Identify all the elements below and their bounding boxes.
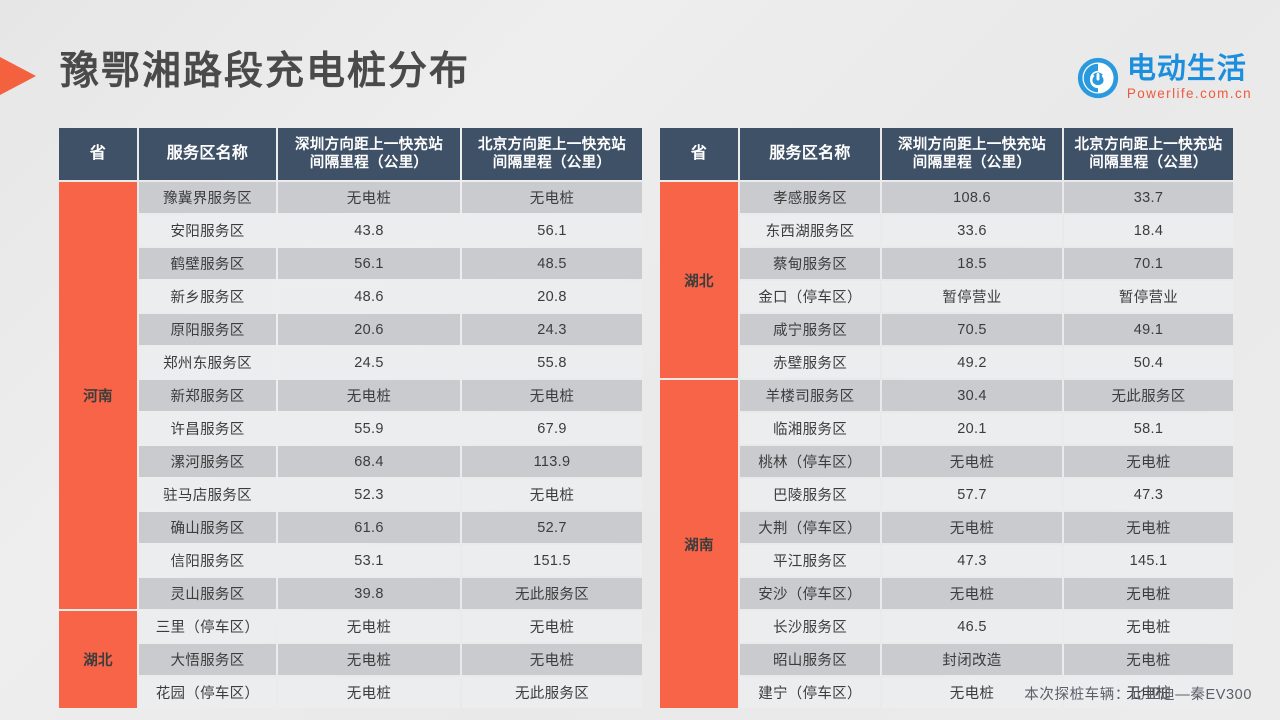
table-row: 郑州东服务区24.555.8 (59, 347, 642, 378)
shenzhen-distance-cell: 20.6 (278, 314, 460, 345)
service-area-name-cell: 豫冀界服务区 (139, 182, 276, 213)
logo-name-cn: 电动生活 (1127, 55, 1247, 84)
province-cell: 河南 (59, 182, 137, 609)
shenzhen-distance-cell: 43.8 (278, 215, 460, 246)
table-row: 赤壁服务区49.250.4 (660, 347, 1233, 378)
column-header-beijing-direction: 北京方向距上一快充站 间隔里程（公里） (1064, 128, 1233, 180)
table-row: 湖南羊楼司服务区30.4无此服务区 (660, 380, 1233, 411)
shenzhen-distance-cell: 68.4 (278, 446, 460, 477)
service-area-name-cell: 漯河服务区 (139, 446, 276, 477)
charging-station-table-left: 省 服务区名称 深圳方向距上一快充站 间隔里程（公里） 北京方向距上一快充站 间… (57, 126, 634, 710)
province-cell: 湖北 (59, 611, 137, 708)
beijing-distance-cell: 无此服务区 (1064, 380, 1233, 411)
service-area-name-cell: 咸宁服务区 (740, 314, 880, 345)
table-row: 鹤壁服务区56.148.5 (59, 248, 642, 279)
column-header-shenzhen-line2: 间隔里程（公里） (913, 155, 1031, 171)
column-header-shenzhen-direction: 深圳方向距上一快充站 间隔里程（公里） (882, 128, 1062, 180)
table-row: 临湘服务区20.158.1 (660, 413, 1233, 444)
service-area-name-cell: 金口（停车区） (740, 281, 880, 312)
shenzhen-distance-cell: 49.2 (882, 347, 1062, 378)
beijing-distance-cell: 52.7 (462, 512, 642, 543)
column-header-service-area: 服务区名称 (740, 128, 880, 180)
table-row: 安沙（停车区）无电桩无电桩 (660, 578, 1233, 609)
service-area-name-cell: 建宁（停车区） (740, 677, 880, 708)
service-area-name-cell: 赤壁服务区 (740, 347, 880, 378)
shenzhen-distance-cell: 无电桩 (278, 182, 460, 213)
table-row: 漯河服务区68.4113.9 (59, 446, 642, 477)
service-area-name-cell: 羊楼司服务区 (740, 380, 880, 411)
service-area-name-cell: 郑州东服务区 (139, 347, 276, 378)
power-button-circle-icon (1077, 57, 1119, 99)
beijing-distance-cell: 无电桩 (462, 182, 642, 213)
service-area-name-cell: 新郑服务区 (139, 380, 276, 411)
table-row: 安阳服务区43.856.1 (59, 215, 642, 246)
beijing-distance-cell: 无电桩 (462, 380, 642, 411)
shenzhen-distance-cell: 61.6 (278, 512, 460, 543)
beijing-distance-cell: 49.1 (1064, 314, 1233, 345)
column-header-shenzhen-direction: 深圳方向距上一快充站 间隔里程（公里） (278, 128, 460, 180)
service-area-name-cell: 花园（停车区） (139, 677, 276, 708)
beijing-distance-cell: 58.1 (1064, 413, 1233, 444)
beijing-distance-cell: 18.4 (1064, 215, 1233, 246)
table-row: 河南豫冀界服务区无电桩无电桩 (59, 182, 642, 213)
column-header-beijing-direction: 北京方向距上一快充站 间隔里程（公里） (462, 128, 642, 180)
beijing-distance-cell: 48.5 (462, 248, 642, 279)
shenzhen-distance-cell: 无电桩 (278, 677, 460, 708)
beijing-distance-cell: 暂停营业 (1064, 281, 1233, 312)
column-header-beijing-line2: 间隔里程（公里） (1089, 155, 1207, 171)
table-body: 湖北孝感服务区108.633.7东西湖服务区33.618.4蔡甸服务区18.57… (660, 182, 1233, 708)
column-header-province: 省 (59, 128, 137, 180)
shenzhen-distance-cell: 无电桩 (882, 446, 1062, 477)
service-area-name-cell: 安沙（停车区） (740, 578, 880, 609)
service-area-name-cell: 孝感服务区 (740, 182, 880, 213)
shenzhen-distance-cell: 33.6 (882, 215, 1062, 246)
shenzhen-distance-cell: 暂停营业 (882, 281, 1062, 312)
service-area-name-cell: 临湘服务区 (740, 413, 880, 444)
table-header-row: 省 服务区名称 深圳方向距上一快充站 间隔里程（公里） 北京方向距上一快充站 间… (59, 128, 642, 180)
table-header-row: 省 服务区名称 深圳方向距上一快充站 间隔里程（公里） 北京方向距上一快充站 间… (660, 128, 1233, 180)
beijing-distance-cell: 50.4 (1064, 347, 1233, 378)
service-area-name-cell: 长沙服务区 (740, 611, 880, 642)
column-header-beijing-line2: 间隔里程（公里） (493, 155, 611, 171)
shenzhen-distance-cell: 55.9 (278, 413, 460, 444)
shenzhen-distance-cell: 48.6 (278, 281, 460, 312)
beijing-distance-cell: 无此服务区 (462, 578, 642, 609)
shenzhen-distance-cell: 24.5 (278, 347, 460, 378)
shenzhen-distance-cell: 无电桩 (882, 578, 1062, 609)
beijing-distance-cell: 113.9 (462, 446, 642, 477)
service-area-name-cell: 平江服务区 (740, 545, 880, 576)
table-row: 湖北孝感服务区108.633.7 (660, 182, 1233, 213)
column-header-service-area: 服务区名称 (139, 128, 276, 180)
table-row: 大悟服务区无电桩无电桩 (59, 644, 642, 675)
shenzhen-distance-cell: 52.3 (278, 479, 460, 510)
service-area-name-cell: 鹤壁服务区 (139, 248, 276, 279)
shenzhen-distance-cell: 39.8 (278, 578, 460, 609)
shenzhen-distance-cell: 封闭改造 (882, 644, 1062, 675)
beijing-distance-cell: 无电桩 (1064, 446, 1233, 477)
beijing-distance-cell: 56.1 (462, 215, 642, 246)
table-row: 金口（停车区）暂停营业暂停营业 (660, 281, 1233, 312)
shenzhen-distance-cell: 30.4 (882, 380, 1062, 411)
column-header-shenzhen-line2: 间隔里程（公里） (310, 155, 428, 171)
service-area-name-cell: 许昌服务区 (139, 413, 276, 444)
shenzhen-distance-cell: 18.5 (882, 248, 1062, 279)
beijing-distance-cell: 无电桩 (1064, 578, 1233, 609)
table-row: 驻马店服务区52.3无电桩 (59, 479, 642, 510)
table-row: 信阳服务区53.1151.5 (59, 545, 642, 576)
table-row: 蔡甸服务区18.570.1 (660, 248, 1233, 279)
shenzhen-distance-cell: 56.1 (278, 248, 460, 279)
service-area-name-cell: 大荆（停车区） (740, 512, 880, 543)
service-area-name-cell: 安阳服务区 (139, 215, 276, 246)
shenzhen-distance-cell: 无电桩 (278, 644, 460, 675)
service-area-name-cell: 信阳服务区 (139, 545, 276, 576)
service-area-name-cell: 昭山服务区 (740, 644, 880, 675)
shenzhen-distance-cell: 20.1 (882, 413, 1062, 444)
province-cell: 湖北 (660, 182, 738, 378)
beijing-distance-cell: 无电桩 (462, 479, 642, 510)
beijing-distance-cell: 无电桩 (1064, 611, 1233, 642)
beijing-distance-cell: 151.5 (462, 545, 642, 576)
beijing-distance-cell: 55.8 (462, 347, 642, 378)
service-area-name-cell: 巴陵服务区 (740, 479, 880, 510)
table-row: 桃林（停车区）无电桩无电桩 (660, 446, 1233, 477)
table-row: 花园（停车区）无电桩无此服务区 (59, 677, 642, 708)
service-area-name-cell: 大悟服务区 (139, 644, 276, 675)
table-body: 河南豫冀界服务区无电桩无电桩安阳服务区43.856.1鹤壁服务区56.148.5… (59, 182, 642, 708)
table-row: 长沙服务区46.5无电桩 (660, 611, 1233, 642)
table-row: 确山服务区61.652.7 (59, 512, 642, 543)
column-header-shenzhen-line1: 深圳方向距上一快充站 (898, 137, 1046, 153)
right-triangle-icon (0, 56, 36, 96)
beijing-distance-cell: 33.7 (1064, 182, 1233, 213)
shenzhen-distance-cell: 无电桩 (278, 611, 460, 642)
table-row: 昭山服务区封闭改造无电桩 (660, 644, 1233, 675)
service-area-name-cell: 东西湖服务区 (740, 215, 880, 246)
table-row: 原阳服务区20.624.3 (59, 314, 642, 345)
service-area-name-cell: 蔡甸服务区 (740, 248, 880, 279)
service-area-name-cell: 驻马店服务区 (139, 479, 276, 510)
service-area-name-cell: 灵山服务区 (139, 578, 276, 609)
shenzhen-distance-cell: 57.7 (882, 479, 1062, 510)
shenzhen-distance-cell: 无电桩 (882, 512, 1062, 543)
service-area-name-cell: 桃林（停车区） (740, 446, 880, 477)
beijing-distance-cell: 70.1 (1064, 248, 1233, 279)
beijing-distance-cell: 47.3 (1064, 479, 1233, 510)
shenzhen-distance-cell: 无电桩 (278, 380, 460, 411)
beijing-distance-cell: 24.3 (462, 314, 642, 345)
table-row: 灵山服务区39.8无此服务区 (59, 578, 642, 609)
site-logo: 电动生活 Powerlife.com.cn (1077, 55, 1252, 101)
table-row: 湖北三里（停车区）无电桩无电桩 (59, 611, 642, 642)
table-row: 许昌服务区55.967.9 (59, 413, 642, 444)
beijing-distance-cell: 67.9 (462, 413, 642, 444)
beijing-distance-cell: 无此服务区 (462, 677, 642, 708)
table-row: 平江服务区47.3145.1 (660, 545, 1233, 576)
shenzhen-distance-cell: 46.5 (882, 611, 1062, 642)
column-header-beijing-line1: 北京方向距上一快充站 (478, 137, 626, 153)
table-row: 巴陵服务区57.747.3 (660, 479, 1233, 510)
beijing-distance-cell: 无电桩 (462, 644, 642, 675)
beijing-distance-cell: 无电桩 (1064, 644, 1233, 675)
footer-note: 本次探桩车辆：比亚迪—秦EV300 (1024, 683, 1252, 704)
shenzhen-distance-cell: 47.3 (882, 545, 1062, 576)
logo-name-en: Powerlife.com.cn (1127, 87, 1252, 101)
shenzhen-distance-cell: 108.6 (882, 182, 1062, 213)
table-row: 新乡服务区48.620.8 (59, 281, 642, 312)
table-row: 新郑服务区无电桩无电桩 (59, 380, 642, 411)
shenzhen-distance-cell: 53.1 (278, 545, 460, 576)
charging-station-table-right: 省 服务区名称 深圳方向距上一快充站 间隔里程（公里） 北京方向距上一快充站 间… (658, 126, 1225, 710)
beijing-distance-cell: 无电桩 (462, 611, 642, 642)
service-area-name-cell: 三里（停车区） (139, 611, 276, 642)
beijing-distance-cell: 无电桩 (1064, 512, 1233, 543)
beijing-distance-cell: 20.8 (462, 281, 642, 312)
province-cell: 湖南 (660, 380, 738, 708)
beijing-distance-cell: 145.1 (1064, 545, 1233, 576)
shenzhen-distance-cell: 70.5 (882, 314, 1062, 345)
table-row: 东西湖服务区33.618.4 (660, 215, 1233, 246)
column-header-beijing-line1: 北京方向距上一快充站 (1075, 137, 1223, 153)
table-row: 大荆（停车区）无电桩无电桩 (660, 512, 1233, 543)
column-header-province: 省 (660, 128, 738, 180)
page-title: 豫鄂湘路段充电桩分布 (60, 51, 470, 94)
service-area-name-cell: 确山服务区 (139, 512, 276, 543)
table-row: 咸宁服务区70.549.1 (660, 314, 1233, 345)
service-area-name-cell: 新乡服务区 (139, 281, 276, 312)
service-area-name-cell: 原阳服务区 (139, 314, 276, 345)
column-header-shenzhen-line1: 深圳方向距上一快充站 (295, 137, 443, 153)
